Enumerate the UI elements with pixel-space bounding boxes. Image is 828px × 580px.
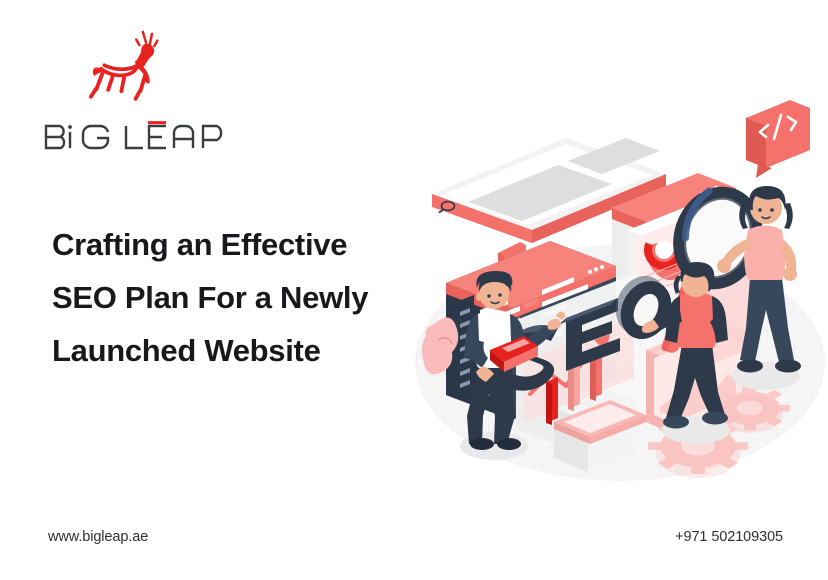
leaping-deer-icon <box>86 28 182 106</box>
footer-website[interactable]: www.bigleap.ae <box>48 529 148 545</box>
seo-team-isometric-illustration <box>398 78 828 488</box>
footer-phone[interactable]: +971 502109305 <box>675 529 783 545</box>
code-tag-badge <box>746 100 810 178</box>
seo-blog-banner: Crafting an Effective SEO Plan For a New… <box>0 0 828 580</box>
brand-wordmark <box>42 118 242 158</box>
brand-logo[interactable] <box>42 22 242 142</box>
